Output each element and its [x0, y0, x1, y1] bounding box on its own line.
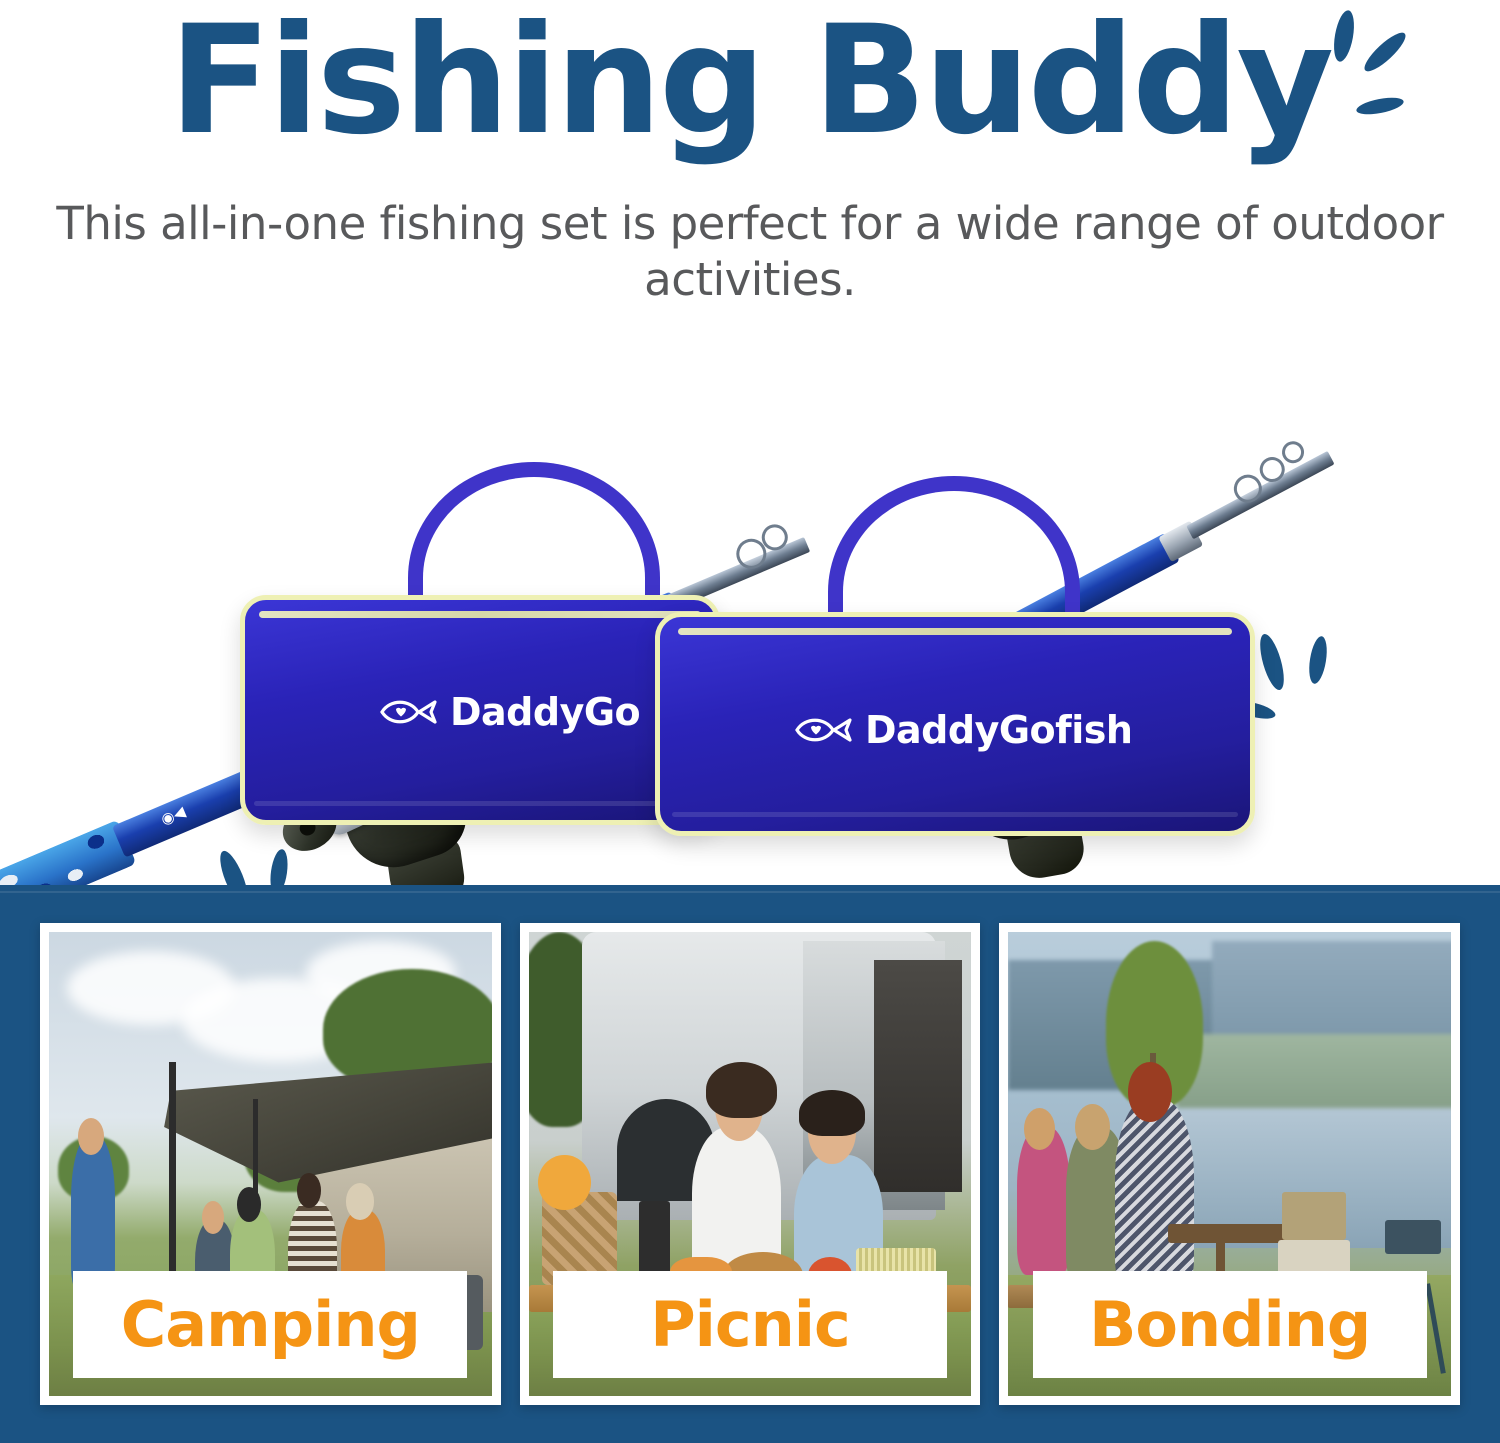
camping-label: Camping — [121, 1288, 420, 1361]
usecase-card-picnic[interactable]: Picnic — [520, 923, 981, 1405]
usecase-panel: Camping — [0, 885, 1500, 1443]
camping-label-band: Camping — [73, 1271, 467, 1378]
bonding-label: Bonding — [1089, 1288, 1370, 1361]
bag-seam-back — [254, 801, 705, 806]
picnic-label-band: Picnic — [553, 1271, 947, 1378]
camping-photo: Camping — [49, 932, 492, 1396]
product-marketing-page: Fishing Buddy This all-in-one fishing se… — [0, 0, 1500, 1443]
bag-handle-front — [828, 476, 1080, 616]
carry-bag-front: DaddyGofish — [655, 612, 1255, 836]
bag-zipper-front — [678, 628, 1233, 635]
bag-seam-front — [672, 812, 1238, 817]
fish-with-heart-icon — [380, 696, 438, 728]
usecase-card-list: Camping — [40, 923, 1460, 1405]
bonding-photo: Bonding — [1008, 932, 1451, 1396]
product-photo: ◉◀ — [0, 300, 1500, 885]
hero-section: Fishing Buddy This all-in-one fishing se… — [0, 0, 1500, 885]
page-title: Fishing Buddy — [169, 8, 1331, 155]
picnic-label: Picnic — [650, 1288, 850, 1361]
water-splash-icon — [1302, 6, 1422, 146]
bonding-label-band: Bonding — [1033, 1271, 1427, 1378]
bag-logo-text-front: DaddyGofish — [865, 708, 1132, 752]
bag-logo-text-back: DaddyGo — [450, 690, 640, 734]
usecase-card-camping[interactable]: Camping — [40, 923, 501, 1405]
bag-logo-clip-back: DaddyGo — [380, 690, 665, 740]
carry-bag-back: DaddyGo — [240, 595, 720, 825]
bag-logo-back: DaddyGo — [380, 690, 665, 734]
person-adult — [1115, 1099, 1195, 1294]
page-subtitle: This all-in-one fishing set is perfect f… — [0, 196, 1500, 309]
picnic-photo: Picnic — [529, 932, 972, 1396]
title-row: Fishing Buddy — [0, 8, 1500, 155]
usecase-card-bonding[interactable]: Bonding — [999, 923, 1460, 1405]
fish-with-heart-icon — [795, 714, 853, 746]
bag-handle-back — [408, 462, 660, 602]
bag-zipper-back — [259, 611, 701, 618]
bag-logo-front: DaddyGofish — [795, 708, 1132, 752]
